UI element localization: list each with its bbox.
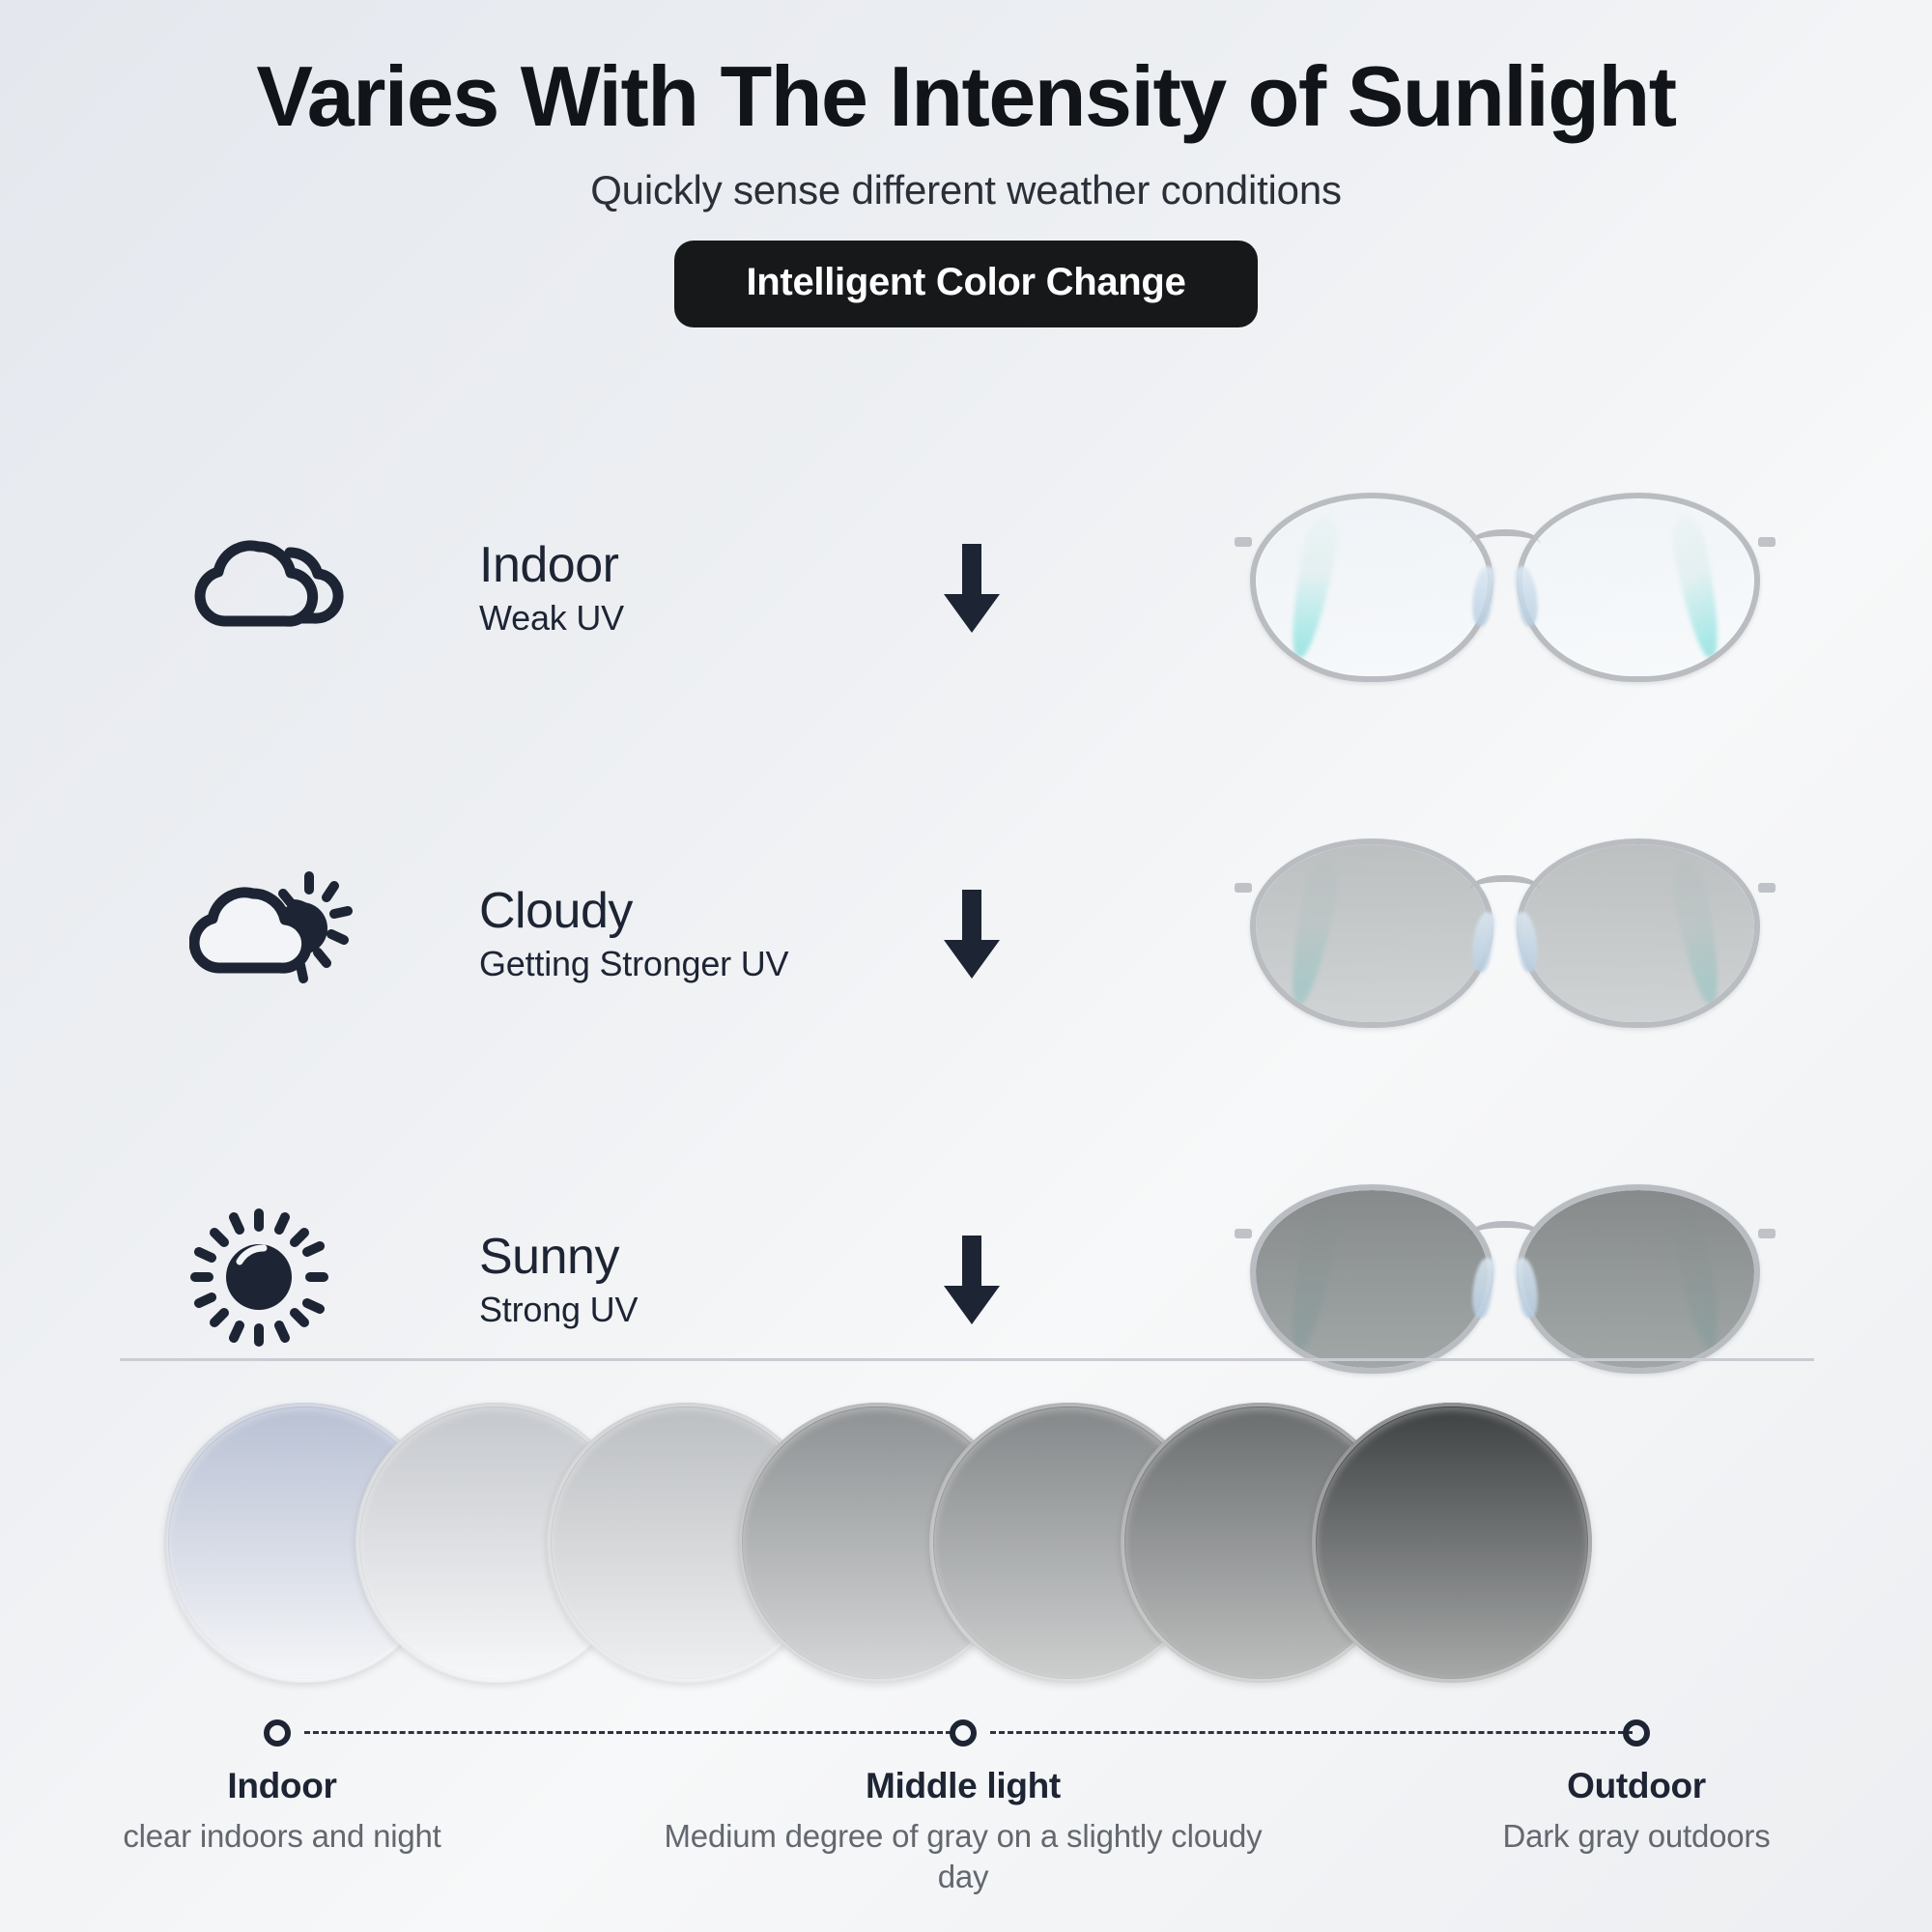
scale-dashed-line <box>304 1731 952 1734</box>
light-level-scale: Indoor clear indoors and night Middle li… <box>0 1710 1932 1932</box>
lens-gradient-strip <box>0 1403 1932 1702</box>
page-subtitle: Quickly sense different weather conditio… <box>0 167 1932 213</box>
lens-tint-left <box>1256 1190 1488 1368</box>
sun-icon <box>189 1207 329 1352</box>
hinge-right <box>1758 883 1776 893</box>
section-divider <box>120 1358 1814 1361</box>
condition-text-cell: Cloudy Getting Stronger UV <box>479 884 866 985</box>
eyeglasses-indoor <box>1235 487 1776 690</box>
scale-marker-outdoor[interactable] <box>1623 1719 1650 1747</box>
lens-tint-left <box>1256 498 1488 676</box>
condition-title: Cloudy <box>479 884 866 938</box>
page-title: Varies With The Intensity of Sunlight <box>0 50 1932 142</box>
glasses-cell-indoor <box>1078 487 1932 690</box>
lens-tint-right <box>1522 1190 1754 1368</box>
condition-icon-cell <box>189 1207 460 1352</box>
condition-row-indoor: Indoor Weak UV <box>0 415 1932 761</box>
condition-text-cell: Sunny Strong UV <box>479 1230 866 1331</box>
scale-desc: Dark gray outdoors <box>1400 1816 1873 1857</box>
lens-tint-right <box>1522 844 1754 1022</box>
hinge-left <box>1235 537 1252 547</box>
lens-right <box>1517 838 1760 1028</box>
scale-title: Indoor <box>45 1766 519 1806</box>
arrow-down-icon <box>938 886 1006 982</box>
arrow-down-icon <box>938 1232 1006 1328</box>
eyeglasses-cloudy <box>1235 833 1776 1036</box>
clouds-icon <box>189 529 354 648</box>
condition-subtitle: Strong UV <box>479 1290 866 1330</box>
scale-label-middle: Middle light Medium degree of gray on a … <box>659 1766 1267 1897</box>
scale-title: Outdoor <box>1400 1766 1873 1806</box>
header: Varies With The Intensity of Sunlight Qu… <box>0 50 1932 327</box>
condition-row-sunny: Sunny Strong UV <box>0 1107 1932 1453</box>
arrow-down-icon <box>938 540 1006 637</box>
condition-row-cloudy: Cloudy Getting Stronger UV <box>0 761 1932 1107</box>
hinge-left <box>1235 883 1252 893</box>
cloud-sun-icon <box>189 865 358 1005</box>
scale-marker-middle[interactable] <box>950 1719 977 1747</box>
scale-marker-indoor[interactable] <box>264 1719 291 1747</box>
scale-title: Middle light <box>659 1766 1267 1806</box>
eyeglasses-sunny <box>1235 1179 1776 1381</box>
lens-tint-right <box>1522 498 1754 676</box>
condition-subtitle: Weak UV <box>479 598 866 639</box>
scale-label-indoor: Indoor clear indoors and night <box>45 1766 519 1857</box>
arrow-cell <box>866 886 1078 982</box>
condition-text-cell: Indoor Weak UV <box>479 538 866 639</box>
lens-left <box>1250 838 1493 1028</box>
hinge-left <box>1235 1229 1252 1238</box>
condition-title: Indoor <box>479 538 866 592</box>
scale-desc: Medium degree of gray on a slightly clou… <box>659 1816 1267 1897</box>
condition-icon-cell <box>189 529 460 648</box>
badge-container: Intelligent Color Change <box>0 241 1932 327</box>
lens-tint-left <box>1256 844 1488 1022</box>
lens-right <box>1517 1184 1760 1374</box>
glasses-cell-sunny <box>1078 1179 1932 1381</box>
hinge-right <box>1758 1229 1776 1238</box>
condition-icon-cell <box>189 865 460 1005</box>
arrow-cell <box>866 1232 1078 1328</box>
lens-left <box>1250 1184 1493 1374</box>
arrow-cell <box>866 540 1078 637</box>
condition-title: Sunny <box>479 1230 866 1284</box>
lens-right <box>1517 493 1760 682</box>
scale-label-outdoor: Outdoor Dark gray outdoors <box>1400 1766 1873 1857</box>
scale-desc: clear indoors and night <box>45 1816 519 1857</box>
condition-rows: Indoor Weak UV <box>0 415 1932 1453</box>
glasses-cell-cloudy <box>1078 833 1932 1036</box>
condition-subtitle: Getting Stronger UV <box>479 944 866 984</box>
scale-dashed-line <box>990 1731 1633 1734</box>
gradient-lens <box>1312 1403 1592 1683</box>
intelligent-color-change-badge: Intelligent Color Change <box>674 241 1257 327</box>
lens-left <box>1250 493 1493 682</box>
hinge-right <box>1758 537 1776 547</box>
